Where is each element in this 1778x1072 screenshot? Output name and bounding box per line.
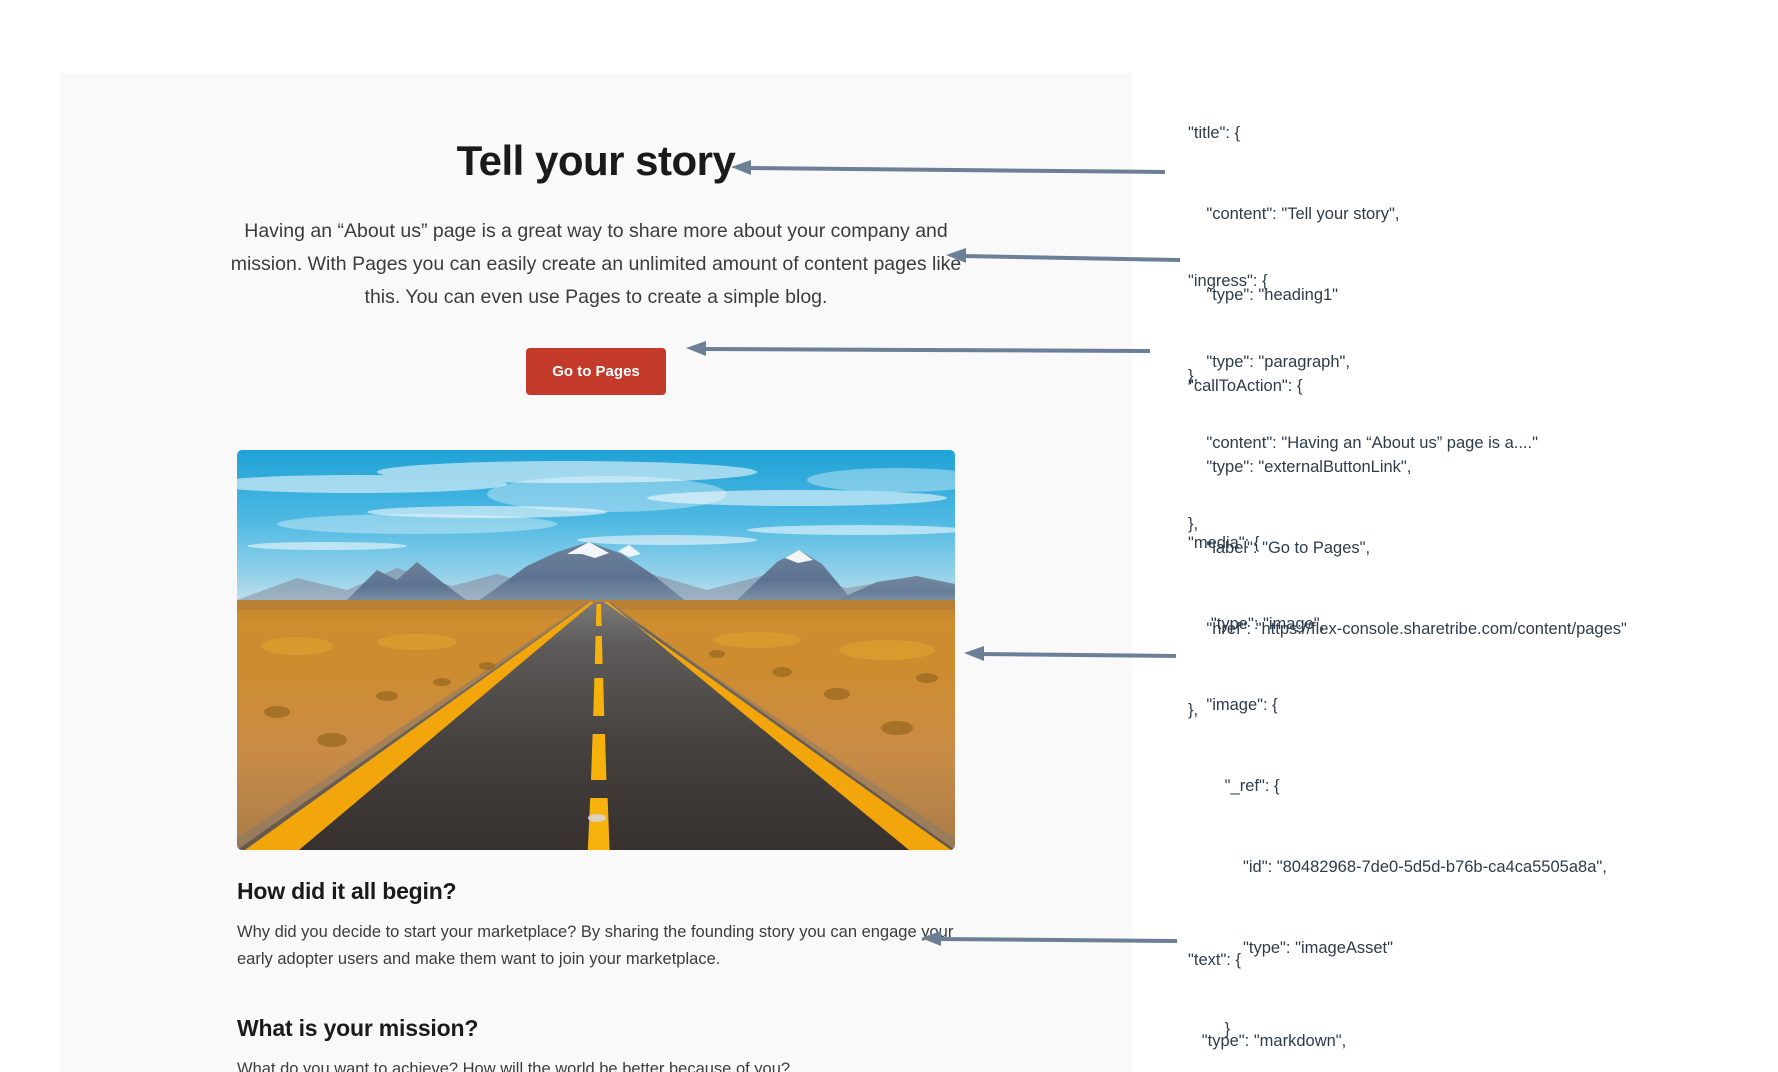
section-heading-1: How did it all begin?	[237, 878, 955, 905]
page-title: Tell your story	[60, 73, 1132, 185]
json-line: "ingress": {	[1188, 268, 1538, 295]
json-line: "id": "80482968-7de0-5d5d-b76b-ca4ca5505…	[1188, 854, 1607, 881]
section-heading-2: What is your mission?	[237, 1015, 955, 1042]
json-line: "_ref": {	[1188, 773, 1607, 800]
road-landscape-illustration	[237, 450, 955, 850]
json-line: "title": {	[1188, 120, 1399, 147]
page-ingress-paragraph: Having an “About us” page is a great way…	[220, 215, 972, 314]
markdown-body: How did it all begin? Why did you decide…	[237, 878, 955, 1072]
json-line: "type": "image",	[1188, 611, 1607, 638]
json-line: "text": {	[1188, 947, 1574, 974]
json-line: "callToAction": {	[1188, 373, 1627, 400]
json-block-text: "text": { "type": "markdown", "content":…	[1188, 893, 1574, 1072]
hero-image	[237, 450, 955, 850]
page-preview-content: Tell your story Having an “About us” pag…	[60, 73, 1132, 1072]
json-line: "type": "markdown",	[1188, 1028, 1574, 1055]
json-annotation-column: "title": { "content": "Tell your story",…	[1188, 66, 1778, 417]
section-paragraph-1: Why did you decide to start your marketp…	[237, 919, 955, 973]
json-line: "image": {	[1188, 692, 1607, 719]
cta-container: Go to Pages	[60, 348, 1132, 395]
page-preview-panel: Tell your story Having an “About us” pag…	[60, 73, 1132, 1072]
section-paragraph-2: What do you want to achieve? How will th…	[237, 1056, 955, 1072]
screenshot-root: Tell your story Having an “About us” pag…	[0, 0, 1778, 1072]
go-to-pages-button[interactable]: Go to Pages	[526, 348, 666, 395]
json-line: "media": {	[1188, 530, 1607, 557]
